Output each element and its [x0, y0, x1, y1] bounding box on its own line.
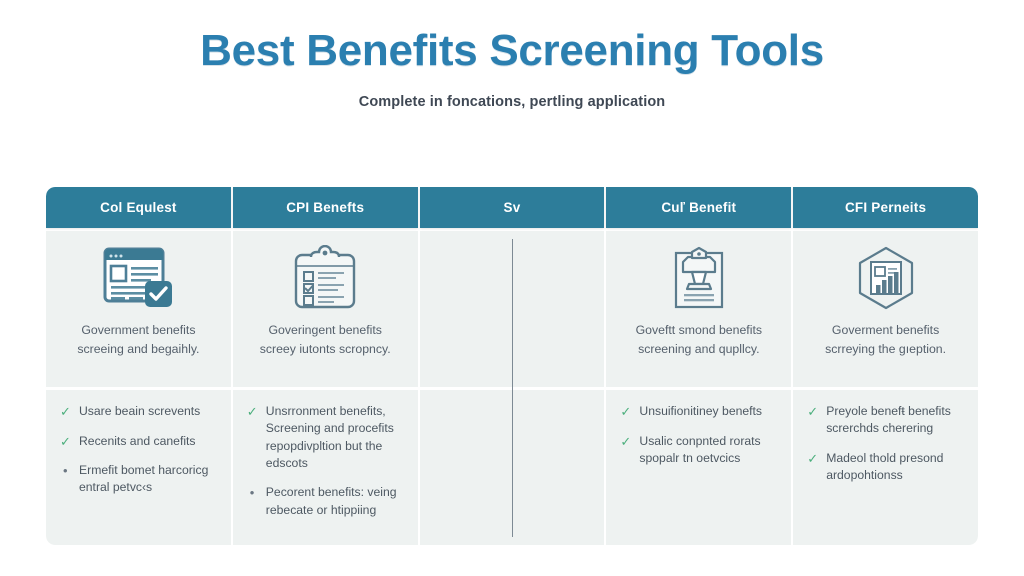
- page-header: Best Benefits Screening Tools Complete i…: [0, 0, 1024, 110]
- browser-document-check-icon: [98, 241, 178, 315]
- check-icon: ✓: [620, 403, 635, 421]
- table-cell-icon-5: Goverment benefits scrreying the ɡıeptio…: [793, 231, 978, 387]
- table-cell-features-5: ✓ Preyole benefŧ benefits screrchds cher…: [793, 390, 978, 545]
- check-icon: ✓: [60, 403, 75, 421]
- bullet-dot-icon: •: [247, 484, 262, 502]
- icon-description-row: Government benefits screeing and begaihl…: [46, 231, 978, 387]
- feature-text: Unsuifionitiney benefts: [639, 403, 779, 420]
- feature-text: Pecorent benefits: veing rebecate or hti…: [266, 484, 406, 519]
- list-item: • Pecorent benefits: veing rebecate or h…: [247, 484, 406, 519]
- check-icon: ✓: [807, 450, 822, 468]
- table-cell-features-4: ✓ Unsuifionitiney benefts ✓ Usalic conpn…: [606, 390, 791, 545]
- column-description-5: Goverment benefits scrreying the ɡıeptio…: [809, 321, 962, 359]
- check-icon: ✓: [620, 433, 635, 451]
- table-body: Government benefits screeing and begaihl…: [46, 228, 978, 545]
- list-item: ✓ Usalic conpnted rorats spopalr tn oetv…: [620, 433, 779, 468]
- feature-list-1: ✓ Usare beain screvents ✓ Recenits and c…: [60, 403, 219, 497]
- clipboard-checklist-icon: [288, 241, 362, 315]
- table-cell-icon-3: [420, 231, 605, 387]
- list-item: ✓ Usare beain screvents: [60, 403, 219, 421]
- feature-text: Madeol thold presond ardopohtionss: [826, 450, 966, 485]
- table-cell-features-2: ✓ Unsrronment benefits, Screening and pr…: [233, 390, 418, 545]
- feature-text: Usare beain screvents: [79, 403, 219, 420]
- list-item: ✓ Madeol thold presond ardopohtionss: [807, 450, 966, 485]
- check-icon: ✓: [807, 403, 822, 421]
- list-item: ✓ Unsuifionitiney benefts: [620, 403, 779, 421]
- column-description-4: Goveftt smond benefits screening and qup…: [622, 321, 775, 359]
- feature-list-4: ✓ Unsuifionitiney benefts ✓ Usalic conpn…: [620, 403, 779, 467]
- table-cell-features-3: [420, 390, 605, 545]
- feature-text: Preyole benefŧ benefits screrchds cherer…: [826, 403, 966, 438]
- document-stamp-icon: [662, 241, 736, 315]
- list-item: ✓ Recenits and canefits: [60, 433, 219, 451]
- hexagon-chart-document-icon: [849, 241, 923, 315]
- check-icon: ✓: [247, 403, 262, 421]
- bullet-dot-icon: •: [60, 462, 75, 480]
- list-item: ✓ Unsrronment benefits, Screening and pr…: [247, 403, 406, 472]
- list-item: • Ermefit bomet harcoricg entral petvc‹s: [60, 462, 219, 497]
- page-title: Best Benefits Screening Tools: [0, 27, 1024, 75]
- check-icon: ✓: [60, 433, 75, 451]
- table-header-row: Col Equlest CPI Benefts Sv Cuľ Benefit C…: [46, 187, 978, 228]
- table-cell-icon-1: Government benefits screeing and begaihl…: [46, 231, 231, 387]
- column-header-2[interactable]: CPI Benefts: [233, 187, 418, 228]
- list-item: ✓ Preyole benefŧ benefits screrchds cher…: [807, 403, 966, 438]
- feature-list-row: ✓ Usare beain screvents ✓ Recenits and c…: [46, 390, 978, 545]
- column-header-5[interactable]: CFI Perneits: [793, 187, 978, 228]
- column-divider-line: [512, 386, 513, 537]
- table-cell-icon-2: Goveringent benefits screey iutonts scro…: [233, 231, 418, 387]
- table-cell-features-1: ✓ Usare beain screvents ✓ Recenits and c…: [46, 390, 231, 545]
- feature-list-2: ✓ Unsrronment benefits, Screening and pr…: [247, 403, 406, 519]
- table-cell-icon-4: Goveftt smond benefits screening and qup…: [606, 231, 791, 387]
- page-subtitle: Complete in foncations, pertling applica…: [0, 94, 1024, 110]
- feature-list-5: ✓ Preyole benefŧ benefits screrchds cher…: [807, 403, 966, 484]
- feature-text: Ermefit bomet harcoricg entral petvc‹s: [79, 462, 219, 497]
- feature-text: Recenits and canefits: [79, 433, 219, 450]
- column-header-3[interactable]: Sv: [420, 187, 605, 228]
- column-description-1: Government benefits screeing and begaihl…: [62, 321, 215, 359]
- column-description-2: Goveringent benefits screey iutonts scro…: [249, 321, 402, 359]
- feature-text: Unsrronment benefits, Screening and proc…: [266, 403, 406, 472]
- comparison-infographic-page: Best Benefits Screening Tools Complete i…: [0, 0, 1024, 576]
- column-header-4[interactable]: Cuľ Benefit: [606, 187, 791, 228]
- feature-text: Usalic conpnted rorats spopalr tn oetvci…: [639, 433, 779, 468]
- column-divider-line: [512, 239, 513, 391]
- column-header-1[interactable]: Col Equlest: [46, 187, 231, 228]
- comparison-table: Col Equlest CPI Benefts Sv Cuľ Benefit C…: [46, 187, 978, 545]
